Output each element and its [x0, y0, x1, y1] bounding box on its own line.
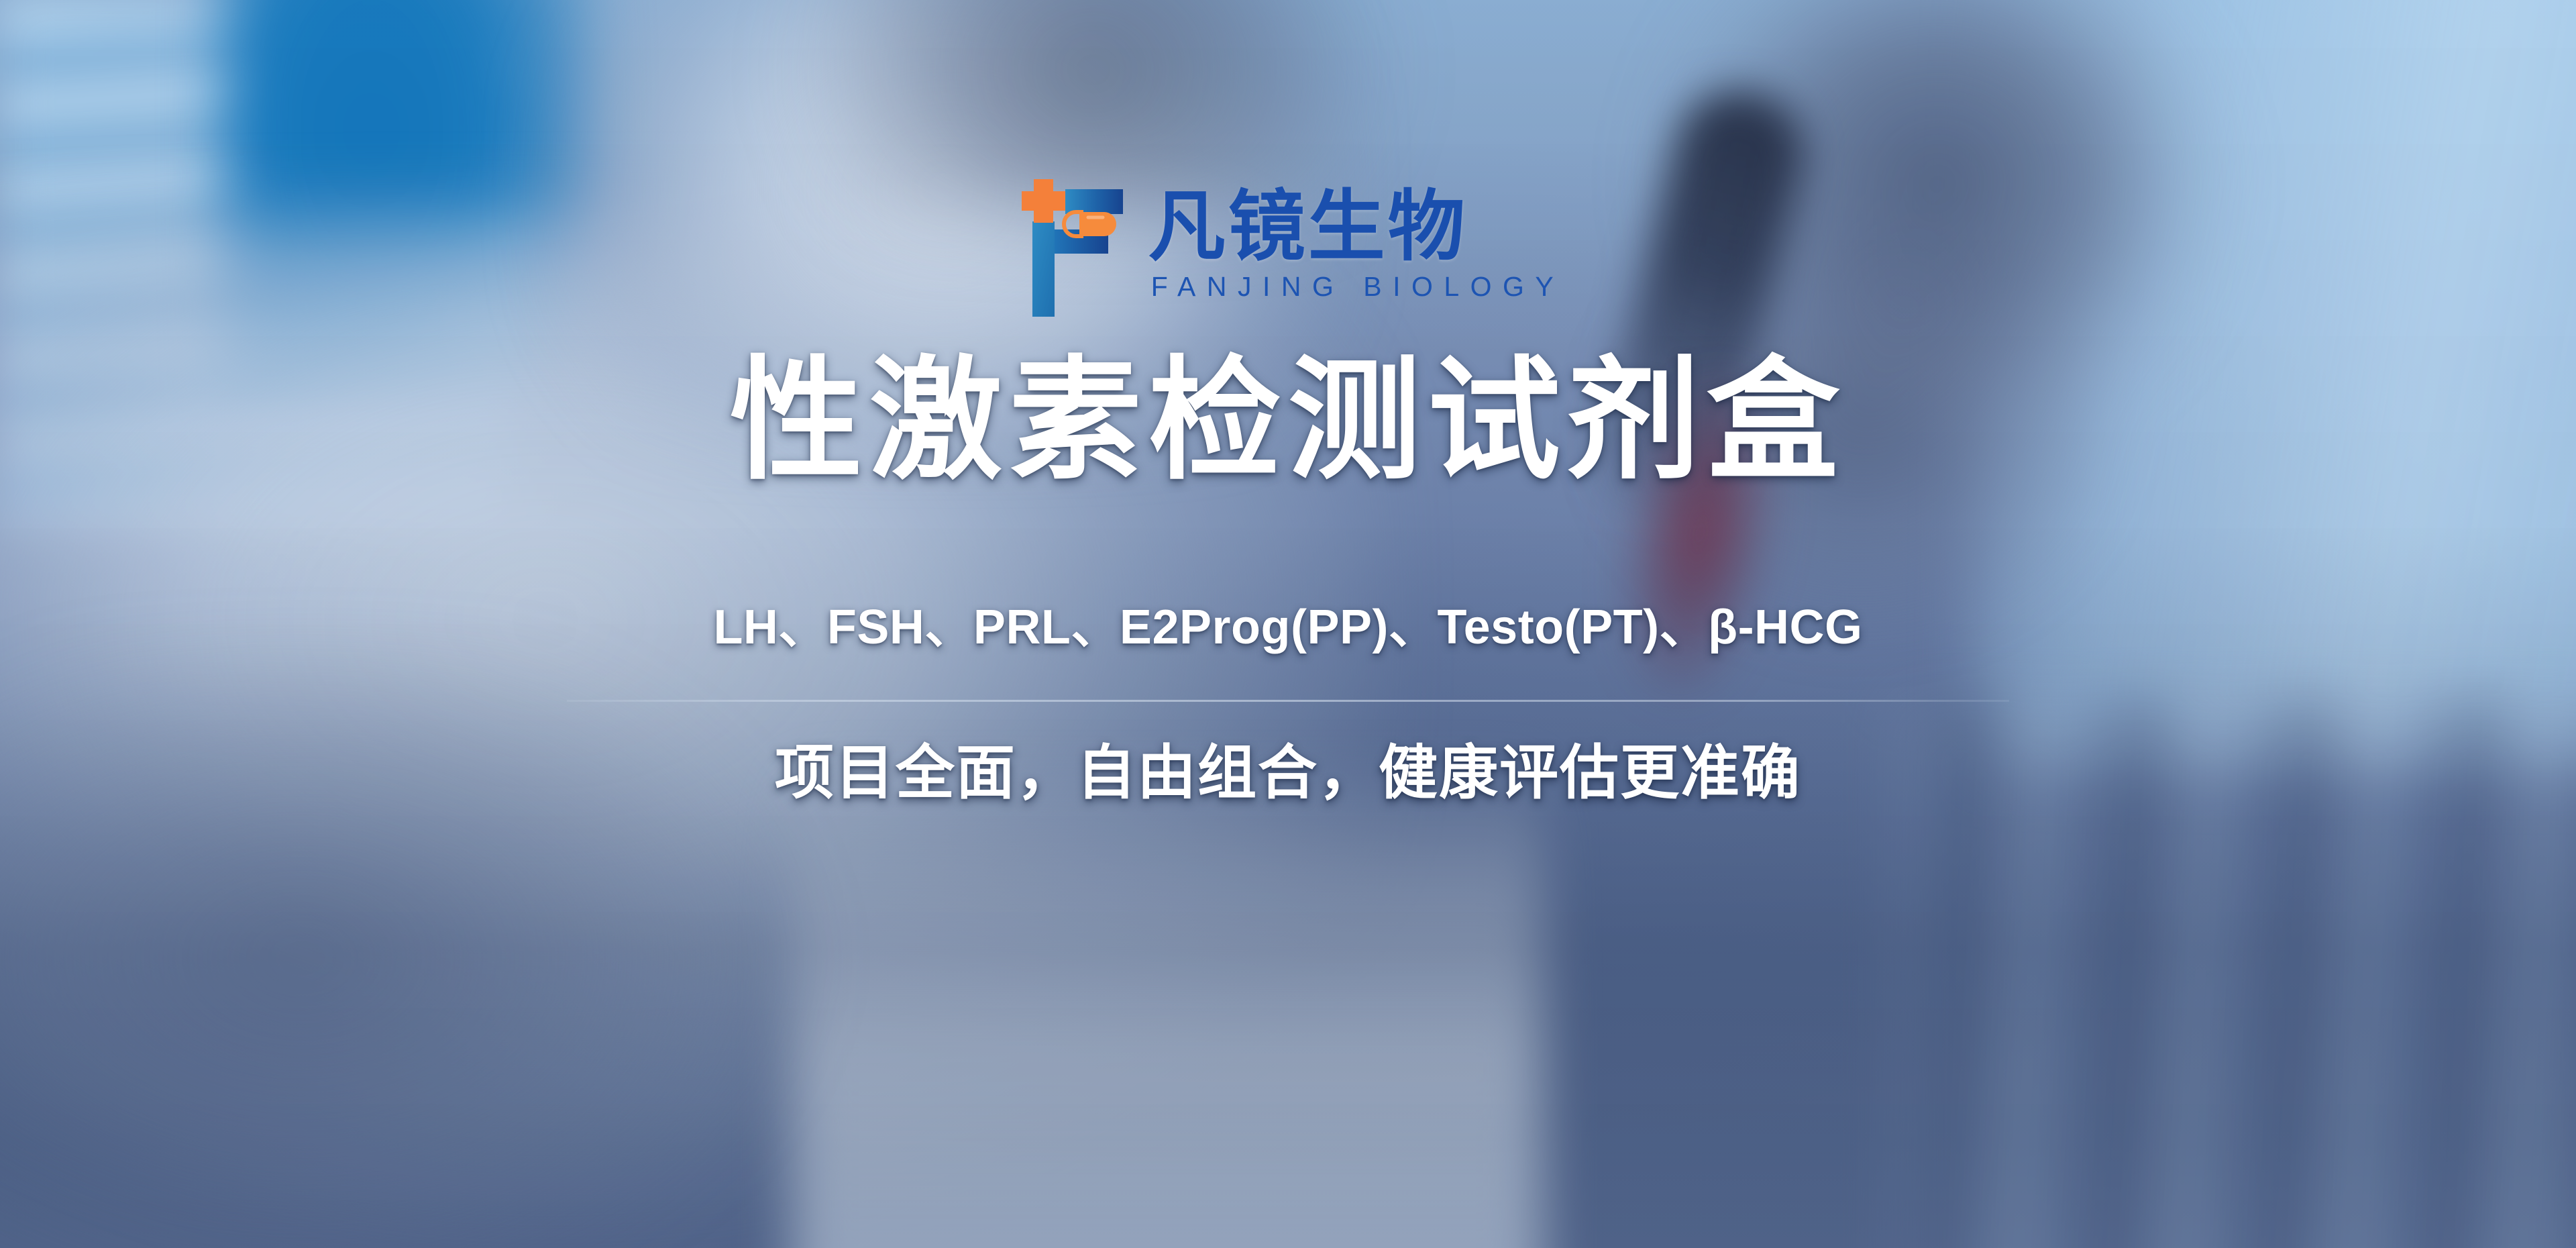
hero-abbreviation-list: LH、FSH、PRL、E2Prog(PP)、Testo(PT)、β-HCG [713, 603, 1862, 652]
hero-banner: 凡镜生物 FANJING BIOLOGY 性激素检测试剂盒 LH、FSH、PRL… [0, 0, 2576, 1248]
hero-headline: 性激素检测试剂盒 [730, 354, 1846, 487]
hero-tagline: 项目全面，自由组合，健康评估更准确 [775, 743, 1801, 802]
brand-wordmark: 凡镜生物 FANJING BIOLOGY [1148, 187, 1565, 303]
fanjing-f-cross-logo-icon [1012, 173, 1124, 317]
brand-logo-lockup: 凡镜生物 FANJING BIOLOGY [1012, 173, 1565, 317]
hero-content: 凡镜生物 FANJING BIOLOGY 性激素检测试剂盒 LH、FSH、PRL… [0, 0, 2576, 1248]
hero-divider [567, 700, 2009, 702]
brand-name-en: FANJING BIOLOGY [1148, 271, 1565, 303]
brand-name-cn: 凡镜生物 [1148, 187, 1468, 268]
